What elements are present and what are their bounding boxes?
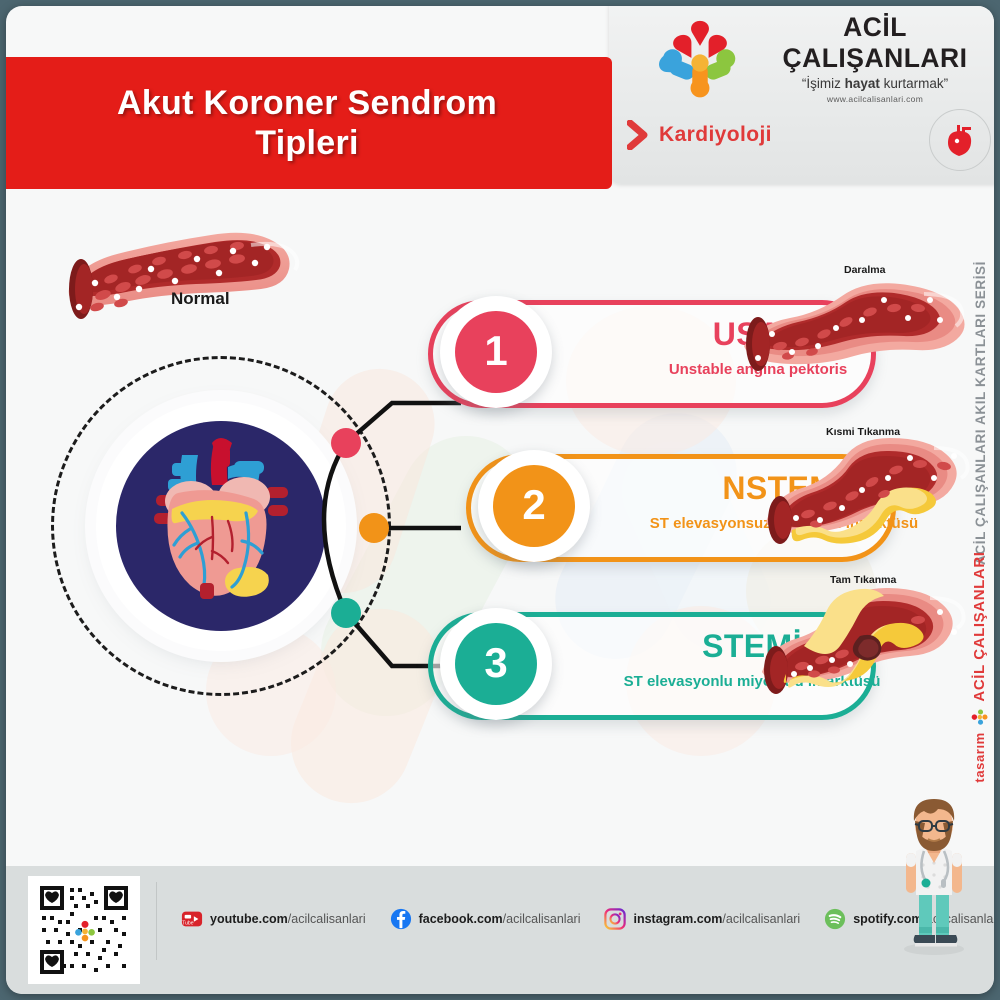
vessel-caption-nstemi: Kısmi Tıkanma (826, 426, 900, 438)
anatomical-heart-illustration (116, 421, 326, 631)
brand-text-block: ACİL ÇALIŞANLARI “İşimiz hayat kurtarmak… (755, 12, 994, 104)
acil-calisanlari-logo-small (971, 708, 988, 725)
designer-prefix: tasarım (972, 732, 987, 782)
brand-slogan: “İşimiz hayat kurtarmak” (755, 76, 994, 91)
center-heart-ring (96, 401, 346, 651)
footer-divider (156, 882, 157, 960)
narrowed-artery (728, 274, 978, 384)
card-number-badge: 2 (478, 450, 590, 562)
anatomical-heart-icon (929, 109, 991, 171)
card-number-badge: 1 (440, 296, 552, 408)
footer-bar: Tube youtube.com/acilcalisanlari faceboo… (6, 866, 994, 994)
category-row[interactable]: Kardiyoloji (627, 120, 772, 150)
social-link-instagram[interactable]: instagram.com/acilcalisanlari (604, 908, 800, 930)
qr-code[interactable] (28, 876, 140, 984)
acil-calisanlari-logo (657, 14, 743, 100)
social-link-facebook[interactable]: facebook.com/acilcalisanlari (390, 908, 581, 930)
social-links: Tube youtube.com/acilcalisanlari faceboo… (181, 908, 994, 930)
card-number: 2 (493, 465, 575, 547)
instagram-icon (604, 908, 626, 930)
vessel-caption-stemi: Tam Tıkanma (830, 574, 896, 586)
page-title: Akut Koroner Sendrom Tipleri (107, 83, 497, 163)
card-number: 1 (455, 311, 537, 393)
card-number-badge: 3 (440, 608, 552, 720)
fully-blocked-artery (744, 584, 974, 709)
poster-title-banner: Akut Koroner Sendrom Tipleri (6, 57, 612, 189)
spotify-icon (824, 908, 846, 930)
vessel-caption-usap: Daralma (844, 264, 885, 276)
brand-website: www.acilcalisanlari.com (755, 94, 994, 104)
brand-panel: ACİL ÇALIŞANLARI “İşimiz hayat kurtarmak… (609, 6, 994, 184)
facebook-icon (390, 908, 412, 930)
partially-blocked-artery (748, 434, 978, 559)
card-number: 3 (455, 623, 537, 705)
brand-name: ACİL ÇALIŞANLARI (755, 12, 994, 74)
social-link-youtube[interactable]: Tube youtube.com/acilcalisanlari (181, 908, 366, 930)
healthy-blood-vessel (51, 211, 351, 331)
youtube-icon: Tube (181, 908, 203, 930)
doctor-character (886, 791, 982, 956)
normal-vessel-label: Normal (171, 289, 230, 309)
svg-text:Tube: Tube (182, 921, 193, 927)
infographic-poster: Akut Koroner Sendrom Tipleri ACİL ÇALIŞA… (6, 6, 994, 994)
chevron-right-icon (627, 120, 649, 150)
category-label: Kardiyoloji (659, 123, 772, 147)
